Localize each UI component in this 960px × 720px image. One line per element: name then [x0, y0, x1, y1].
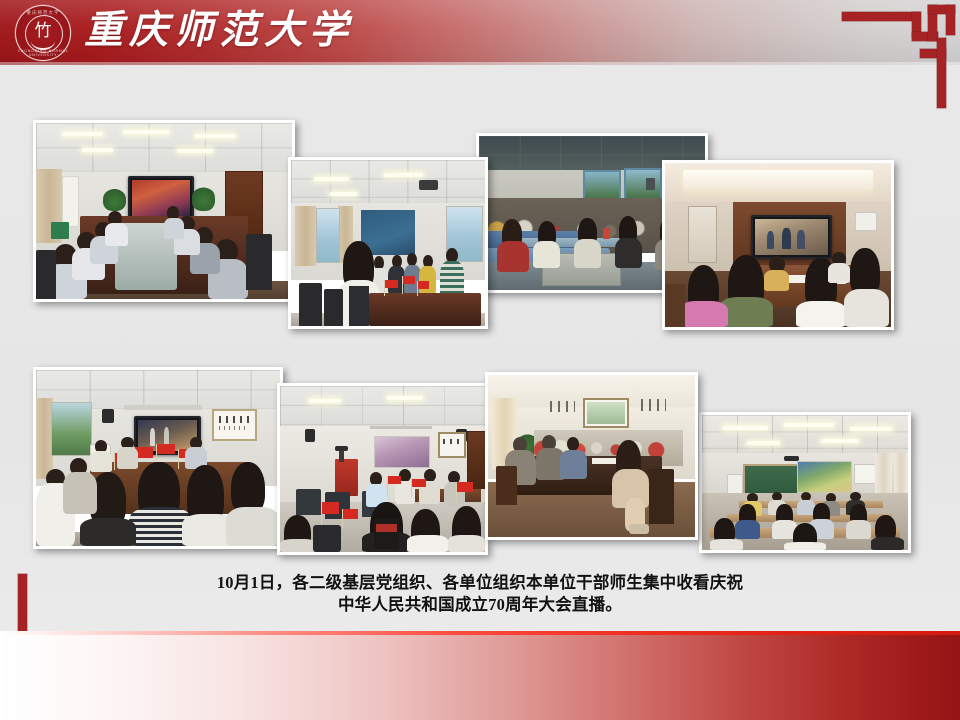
seal-arc-bottom-text: CHONGQING NORMAL UNIVERSITY: [16, 49, 70, 57]
photo-6-scene: [280, 386, 485, 552]
corner-ornament-top-right-icon: [842, 0, 960, 108]
photo-8: [699, 412, 911, 553]
photo-8-scene: [702, 415, 908, 550]
photo-7: [485, 372, 698, 540]
caption-line-2: 中华人民共和国成立70周年大会直播。: [120, 594, 840, 616]
photo-1-scene: [36, 123, 292, 299]
photo-4-scene: [665, 163, 891, 327]
photo-2: [288, 157, 488, 329]
seal-glyph-icon: 竹: [32, 20, 54, 42]
slide-canvas: 重庆师范大学 竹 CHONGQING NORMAL UNIVERSITY 重庆师…: [0, 0, 960, 720]
header-underline: [0, 62, 960, 65]
footer-bar: [0, 631, 960, 720]
photo-1: [33, 120, 295, 302]
photo-5: [33, 367, 283, 549]
photo-4: [662, 160, 894, 330]
photo-7-scene: [488, 375, 695, 537]
photo-5-scene: [36, 370, 280, 546]
photo-6: [277, 383, 488, 555]
header-banner: 重庆师范大学 竹 CHONGQING NORMAL UNIVERSITY 重庆师…: [0, 0, 960, 62]
page-title: 重庆师范大学: [84, 6, 354, 56]
university-seal-icon: 重庆师范大学 竹 CHONGQING NORMAL UNIVERSITY: [15, 5, 71, 61]
photo-2-scene: [291, 160, 485, 326]
caption-line-1: 10月1日，各二级基层党组织、各单位组织本单位干部师生集中收看庆祝: [120, 572, 840, 594]
caption-text: 10月1日，各二级基层党组织、各单位组织本单位干部师生集中收看庆祝 中华人民共和…: [120, 572, 840, 616]
footer-accent-line: [0, 631, 960, 635]
